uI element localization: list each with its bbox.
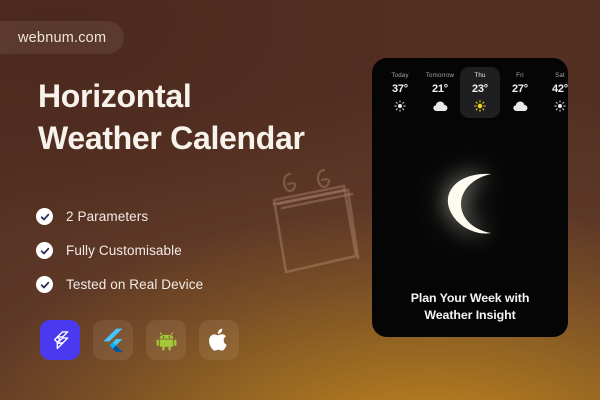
feature-item-1: Fully Customisable <box>36 242 203 259</box>
page-title: Horizontal Weather Calendar <box>38 76 368 159</box>
flutter-icon <box>93 320 133 360</box>
day-temperature: 27° <box>512 83 528 95</box>
feature-item-2: Tested on Real Device <box>36 276 203 293</box>
card-caption: Plan Your Week with Weather Insight <box>386 290 554 324</box>
weather-day-strip[interactable]: Today 37° Tomorrow 21° Thu 23° <box>372 67 568 118</box>
page-title-line2: Weather Calendar <box>38 118 368 160</box>
feature-item-0: 2 Parameters <box>36 208 203 225</box>
weather-preview-card: Today 37° Tomorrow 21° Thu 23° <box>372 58 568 337</box>
weather-day-sat[interactable]: Sat 42° <box>540 67 568 118</box>
day-label: Sat <box>555 72 565 79</box>
check-circle-icon <box>36 276 53 293</box>
day-temperature: 21° <box>432 83 448 95</box>
day-label: Thu <box>474 72 485 79</box>
weather-day-today[interactable]: Today 37° <box>380 67 420 118</box>
page-title-line1: Horizontal <box>38 78 191 114</box>
feature-list: 2 Parameters Fully Customisable Tested o… <box>36 208 203 293</box>
sun-filled-icon <box>474 99 486 112</box>
webnum-badge: webnum.com <box>0 21 124 54</box>
tech-stack-icons <box>40 320 239 360</box>
check-circle-icon <box>36 208 53 225</box>
weather-day-thu[interactable]: Thu 23° <box>460 67 500 118</box>
check-circle-icon <box>36 242 53 259</box>
crescent-moon-icon <box>372 170 568 236</box>
day-label: Fri <box>516 72 524 79</box>
sun-outline-icon <box>394 99 406 112</box>
android-icon <box>146 320 186 360</box>
weather-day-fri[interactable]: Fri 27° <box>500 67 540 118</box>
weather-day-tomorrow[interactable]: Tomorrow 21° <box>420 67 460 118</box>
day-temperature: 23° <box>472 83 488 95</box>
feature-label: 2 Parameters <box>66 209 148 224</box>
day-temperature: 37° <box>392 83 408 95</box>
cloud-icon <box>513 99 528 112</box>
day-label: Tomorrow <box>426 72 454 79</box>
feature-label: Fully Customisable <box>66 243 182 258</box>
sun-outline-icon <box>554 99 566 112</box>
feature-label: Tested on Real Device <box>66 277 203 292</box>
cloud-icon <box>433 99 448 112</box>
day-label: Today <box>391 72 408 79</box>
webnum-badge-label: webnum.com <box>18 30 106 46</box>
day-temperature: 42° <box>552 83 568 95</box>
apple-icon <box>199 320 239 360</box>
flutterflow-icon <box>40 320 80 360</box>
